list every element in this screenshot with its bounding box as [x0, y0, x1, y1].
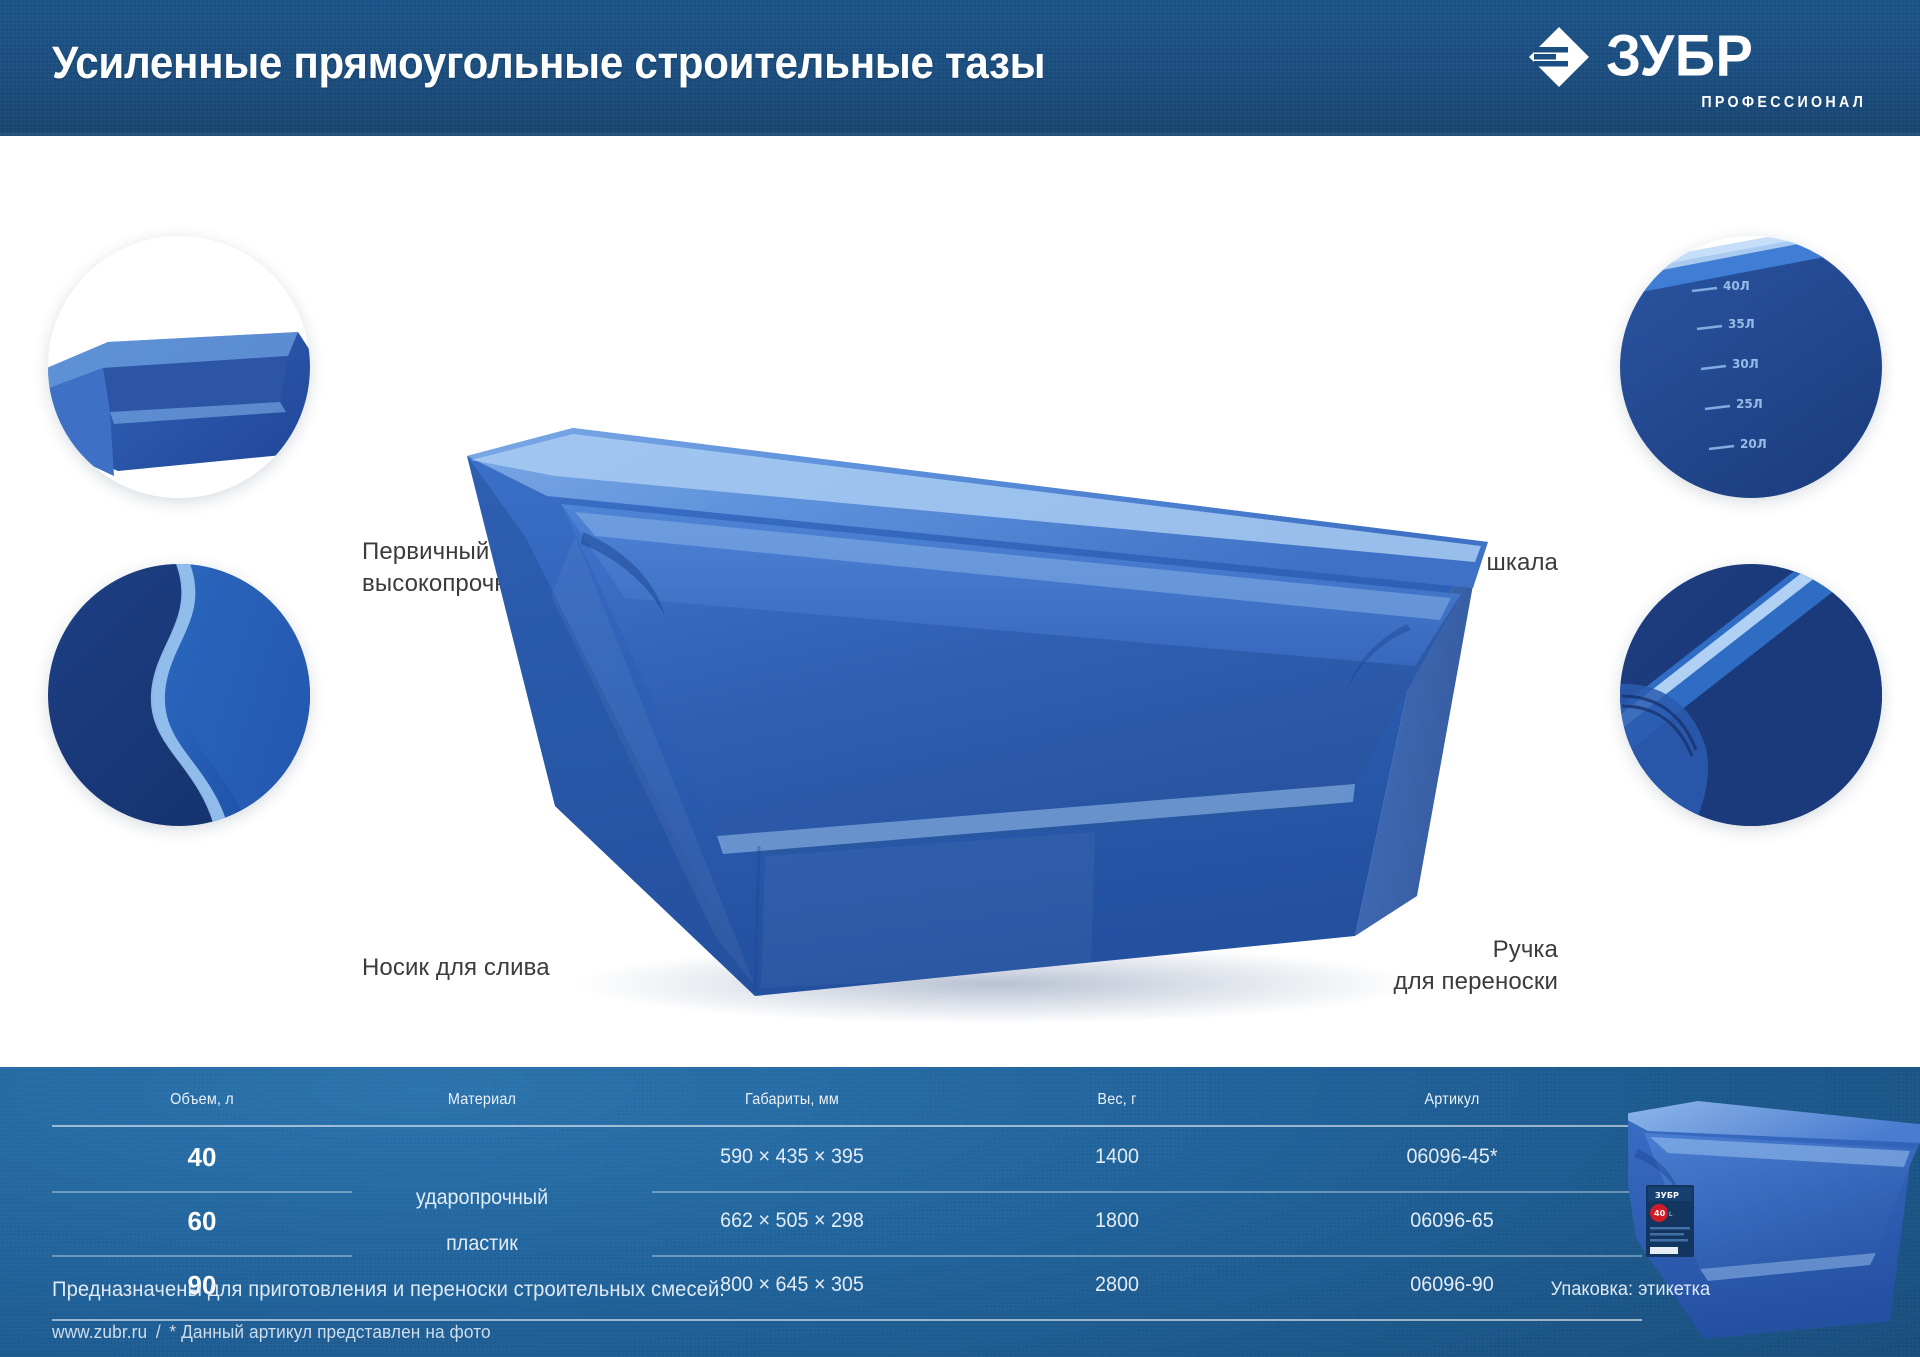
column-header-dimensions: Габариты, мм — [630, 1091, 954, 1109]
zubr-diamond-icon — [1528, 26, 1590, 88]
scale-mark-20: 20Л — [1740, 437, 1767, 451]
detail-circle-spout — [48, 564, 310, 826]
detail-circle-plastic — [48, 236, 310, 498]
table-rule-bottom — [52, 1319, 1642, 1321]
scale-mark-30: 30Л — [1732, 357, 1759, 371]
cell-weight: 2800 — [981, 1273, 1254, 1297]
scale-mark-40: 40Л — [1723, 279, 1750, 293]
table-header-row: Объем, л Материал Габариты, мм Вес, г Ар… — [52, 1077, 1642, 1123]
page-header: Усиленные прямоугольные строительные таз… — [0, 0, 1920, 136]
cell-article: 06096-65 — [1273, 1209, 1630, 1233]
scale-mark-25: 25Л — [1736, 397, 1763, 411]
hero-product-image — [455, 336, 1500, 1026]
detail-circle-measuring-scale: 40Л 35Л 30Л 25Л 20Л — [1620, 236, 1882, 498]
mini-product-image: ЗУБР 40 L — [1628, 1087, 1920, 1355]
cell-dimensions: 662 × 505 × 298 — [623, 1209, 961, 1233]
column-header-article: Артикул — [1281, 1091, 1623, 1109]
svg-text:40: 40 — [1654, 1209, 1666, 1218]
logo-wordmark: ЗУБР — [1606, 29, 1753, 83]
table-row: 60 662 × 505 × 298 1800 06096-65 — [52, 1189, 1642, 1253]
svg-text:ЗУБР: ЗУБР — [1655, 1191, 1679, 1200]
cell-weight: 1800 — [981, 1209, 1254, 1233]
specs-section: Объем, л Материал Габариты, мм Вес, г Ар… — [0, 1067, 1920, 1357]
logo-tagline: ПРОФЕССИОНАЛ — [1701, 94, 1866, 112]
cell-article: 06096-45* — [1273, 1145, 1630, 1169]
column-header-volume: Объем, л — [67, 1091, 337, 1109]
footer-separator: / — [156, 1322, 161, 1343]
cell-weight: 1400 — [981, 1145, 1254, 1169]
cell-volume: 60 — [52, 1206, 352, 1237]
cell-dimensions: 590 × 435 × 395 — [623, 1145, 961, 1169]
footer-links: www.zubr.ru / * Данный артикул представл… — [52, 1322, 491, 1343]
column-header-material: Материал — [365, 1091, 599, 1109]
scale-mark-35: 35Л — [1728, 317, 1755, 331]
article-footnote: * Данный артикул представлен на фото — [169, 1322, 490, 1343]
purpose-note: Предназначены для приготовления и перено… — [52, 1278, 725, 1302]
brand-logo: ЗУБР ПРОФЕССИОНАЛ — [1528, 26, 1868, 114]
column-header-weight: Вес, г — [987, 1091, 1248, 1109]
cell-volume: 40 — [52, 1142, 352, 1173]
product-stage: 40Л 35Л 30Л 25Л 20Л — [0, 136, 1920, 1067]
detail-circle-handle — [1620, 564, 1882, 826]
packaging-note: Упаковка: этикетка — [1550, 1279, 1710, 1301]
page-title: Усиленные прямоугольные строительные таз… — [52, 37, 1045, 89]
website-link[interactable]: www.zubr.ru — [52, 1322, 147, 1343]
table-row: 40 590 × 435 × 395 1400 06096-45* — [52, 1125, 1642, 1189]
